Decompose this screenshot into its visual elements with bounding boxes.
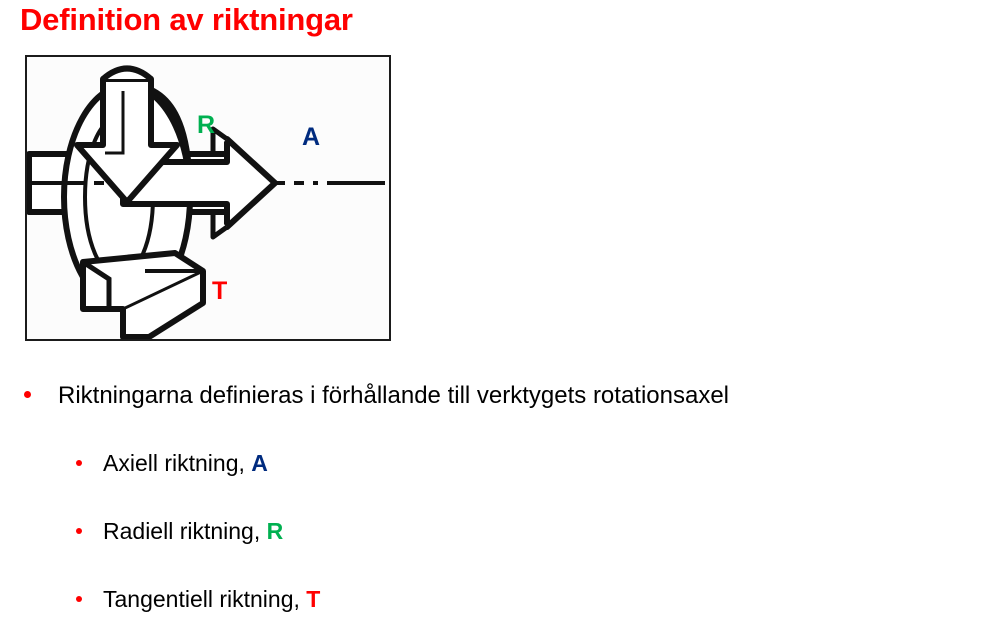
bullet-tangential-letter: T bbox=[306, 586, 320, 612]
bullet-dot-icon bbox=[24, 391, 31, 398]
bullet-dot-icon bbox=[76, 460, 82, 466]
bullet-radial: Radiell riktning, R bbox=[76, 518, 283, 545]
bullet-dot-icon bbox=[76, 528, 82, 534]
slide-canvas: Definition av riktningar bbox=[0, 0, 988, 636]
bullet-radial-letter: R bbox=[267, 518, 284, 544]
directions-diagram-svg bbox=[27, 57, 389, 339]
bullet-tangential-prefix: Tangentiell riktning, bbox=[103, 586, 306, 612]
bullet-axial-letter: A bbox=[251, 450, 268, 476]
radial-arrow-cap bbox=[103, 69, 151, 80]
bullet-dot-icon bbox=[76, 596, 82, 602]
bullet-radial-prefix: Radiell riktning, bbox=[103, 518, 267, 544]
figure-label-axial: A bbox=[302, 125, 320, 150]
bullet-axial-text: Axiell riktning, A bbox=[103, 450, 268, 477]
figure-label-tangential: T bbox=[212, 279, 227, 304]
bullet-main-text: Riktningarna definieras i förhållande ti… bbox=[58, 382, 729, 410]
bullet-tangential-text: Tangentiell riktning, T bbox=[103, 586, 320, 613]
bullet-main: Riktningarna definieras i förhållande ti… bbox=[24, 382, 729, 410]
bullet-axial-prefix: Axiell riktning, bbox=[103, 450, 251, 476]
page-title: Definition av riktningar bbox=[20, 1, 353, 39]
figure-label-radial: R bbox=[197, 113, 215, 138]
figure-frame: R A T bbox=[25, 55, 391, 341]
tangential-arrow bbox=[83, 253, 203, 337]
bullet-tangential: Tangentiell riktning, T bbox=[76, 586, 320, 613]
bullet-axial: Axiell riktning, A bbox=[76, 450, 268, 477]
bullet-radial-text: Radiell riktning, R bbox=[103, 518, 283, 545]
